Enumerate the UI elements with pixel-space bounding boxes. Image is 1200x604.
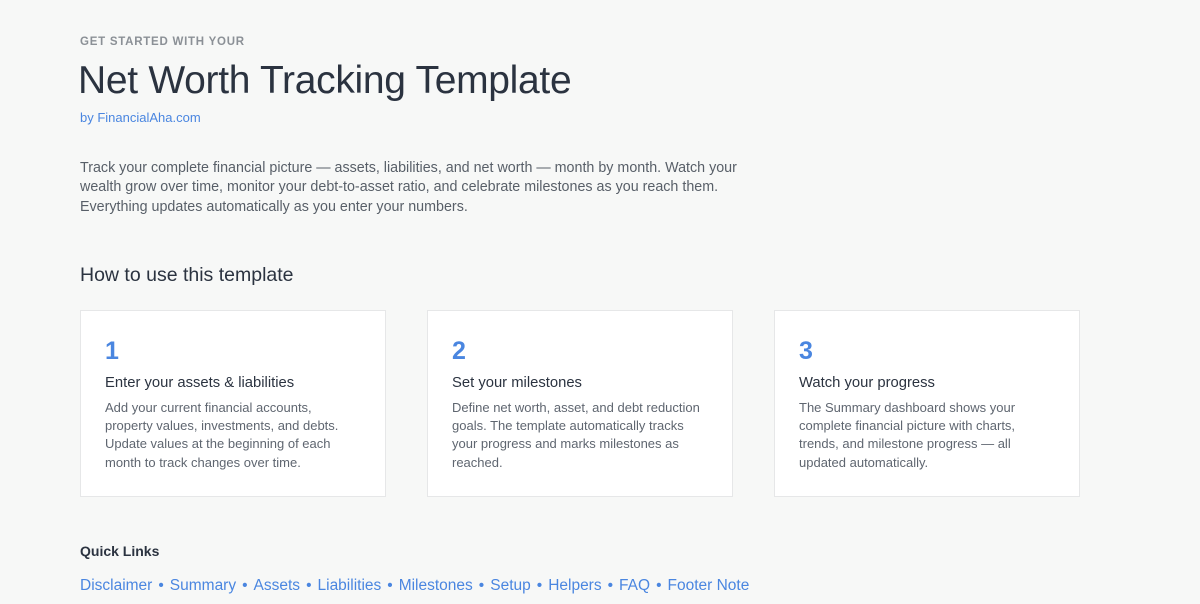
quick-links-separator: • — [152, 577, 169, 594]
quick-link-summary[interactable]: Summary — [170, 577, 236, 594]
content-column: GET STARTED WITH YOUR Net Worth Tracking… — [80, 0, 1080, 597]
quick-link-milestones[interactable]: Milestones — [399, 577, 473, 594]
template-landing-page: GET STARTED WITH YOUR Net Worth Tracking… — [0, 0, 1200, 604]
step-number: 1 — [105, 337, 361, 365]
steps-card-grid: 1 Enter your assets & liabilities Add yo… — [80, 310, 1080, 497]
quick-links-separator: • — [473, 577, 490, 594]
quick-links-separator: • — [602, 577, 619, 594]
step-card-2: 2 Set your milestones Define net worth, … — [427, 310, 733, 497]
quick-link-disclaimer[interactable]: Disclaimer — [80, 577, 152, 594]
intro-paragraph: Track your complete financial picture — … — [80, 159, 772, 217]
byline: by FinancialAha.com — [80, 109, 1080, 127]
step-body: Add your current financial accounts, pro… — [105, 399, 361, 472]
quick-link-footer-note[interactable]: Footer Note — [668, 577, 750, 594]
page-title: Net Worth Tracking Template — [78, 58, 1080, 104]
quick-link-setup[interactable]: Setup — [490, 577, 531, 594]
quick-links-row: Disclaimer•Summary•Assets•Liabilities•Mi… — [80, 575, 1080, 597]
quick-links-separator: • — [300, 577, 317, 594]
quick-link-faq[interactable]: FAQ — [619, 577, 650, 594]
step-title: Watch your progress — [799, 373, 1055, 394]
quick-links-heading: Quick Links — [80, 542, 1080, 561]
step-body: The Summary dashboard shows your complet… — [799, 399, 1055, 472]
step-card-1: 1 Enter your assets & liabilities Add yo… — [80, 310, 386, 497]
quick-links-separator: • — [236, 577, 253, 594]
quick-links-separator: • — [650, 577, 667, 594]
step-title: Set your milestones — [452, 373, 708, 394]
quick-links-separator: • — [381, 577, 398, 594]
quick-link-assets[interactable]: Assets — [254, 577, 301, 594]
byline-link[interactable]: FinancialAha.com — [97, 110, 200, 125]
step-body: Define net worth, asset, and debt reduct… — [452, 399, 708, 472]
quick-link-helpers[interactable]: Helpers — [548, 577, 601, 594]
quick-link-liabilities[interactable]: Liabilities — [318, 577, 382, 594]
step-number: 3 — [799, 337, 1055, 365]
quick-links-separator: • — [531, 577, 548, 594]
step-title: Enter your assets & liabilities — [105, 373, 361, 394]
step-number: 2 — [452, 337, 708, 365]
eyebrow-label: GET STARTED WITH YOUR — [80, 34, 1080, 50]
byline-prefix: by — [80, 110, 97, 125]
section-title-how-to-use: How to use this template — [80, 262, 1080, 288]
step-card-3: 3 Watch your progress The Summary dashbo… — [774, 310, 1080, 497]
